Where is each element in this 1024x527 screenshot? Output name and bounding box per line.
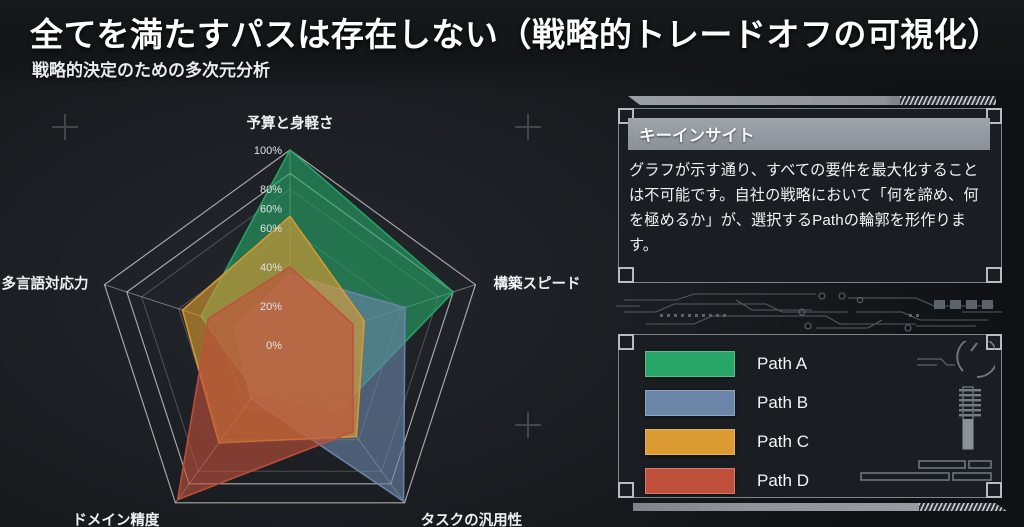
- legend-item-label: Path C: [757, 432, 809, 452]
- hatch-pattern: [919, 503, 1007, 511]
- radial-tick-label: 0%: [266, 340, 282, 352]
- radar-chart-svg: 0%20%40%60%60%80%100%予算と身軽さ構築スピードタスクの汎用性…: [0, 92, 600, 527]
- radar-chart-region: 0%20%40%60%60%80%100%予算と身軽さ構築スピードタスクの汎用性…: [0, 92, 600, 527]
- radar-axis-label: 構築スピード: [494, 275, 581, 293]
- radial-tick-label: 40%: [260, 262, 282, 274]
- circuit-trace-decoration: [616, 292, 1002, 334]
- hatch-pattern: [900, 96, 996, 105]
- legend-item[interactable]: Path D: [645, 466, 809, 496]
- corner-bracket-bl: [618, 482, 634, 498]
- legend-item[interactable]: Path C: [645, 427, 809, 457]
- legend-item[interactable]: Path B: [645, 388, 809, 418]
- hud-bottom-accent-bar: [633, 503, 1007, 511]
- legend-swatch: [645, 429, 735, 455]
- radar-axis-label: 予算と身軽さ: [247, 114, 334, 132]
- radar-axis-label: ドメイン精度: [72, 511, 159, 527]
- legend-swatch: [645, 390, 735, 416]
- legend-item[interactable]: Path A: [645, 349, 809, 379]
- radial-tick-label: 60%: [260, 223, 282, 235]
- legend-item-label: Path B: [757, 393, 808, 413]
- legend-item-label: Path D: [757, 471, 809, 491]
- page-title: 全てを満たすパスは存在しない（戦略的トレードオフの可視化）: [30, 8, 1001, 56]
- key-insight-heading-text: キーインサイト: [639, 122, 755, 146]
- hud-top-accent-bar: [628, 96, 996, 105]
- hud-column: キーインサイト グラフが示す通り、すべての要件を最大化することは不可能です。自社…: [608, 96, 1008, 516]
- legend-panel: Path A Path B Path C Path D: [618, 334, 1002, 498]
- corner-bracket-tl: [618, 334, 634, 350]
- legend-list: Path A Path B Path C Path D: [645, 349, 809, 505]
- key-insight-panel: キーインサイト グラフが示す通り、すべての要件を最大化することは不可能です。自社…: [618, 108, 1002, 283]
- page-subtitle: 戦略的決定のための多次元分析: [32, 56, 270, 81]
- radar-axis-label: 多言語対応力: [2, 275, 89, 293]
- key-insight-header: キーインサイト: [628, 118, 990, 150]
- radar-axis-label: タスクの汎用性: [421, 511, 523, 527]
- radial-tick-label: 20%: [260, 301, 282, 313]
- legend-swatch: [645, 351, 735, 377]
- radial-tick-label: 80%: [260, 184, 282, 196]
- legend-swatch: [645, 468, 735, 494]
- legend-item-label: Path A: [757, 354, 807, 374]
- corner-bracket-bl: [618, 267, 634, 283]
- dial-gauge-icon: [859, 341, 995, 487]
- radial-tick-label: 100%: [254, 145, 282, 157]
- corner-bracket-br: [986, 267, 1002, 283]
- key-insight-body-text: グラフが示す通り、すべての要件を最大化することは不可能です。自社の戦略において「…: [629, 158, 991, 258]
- radial-tick-label: 60%: [260, 204, 282, 216]
- header-bar: 全てを満たすパスは存在しない（戦略的トレードオフの可視化） 戦略的決定のための多…: [0, 0, 1024, 92]
